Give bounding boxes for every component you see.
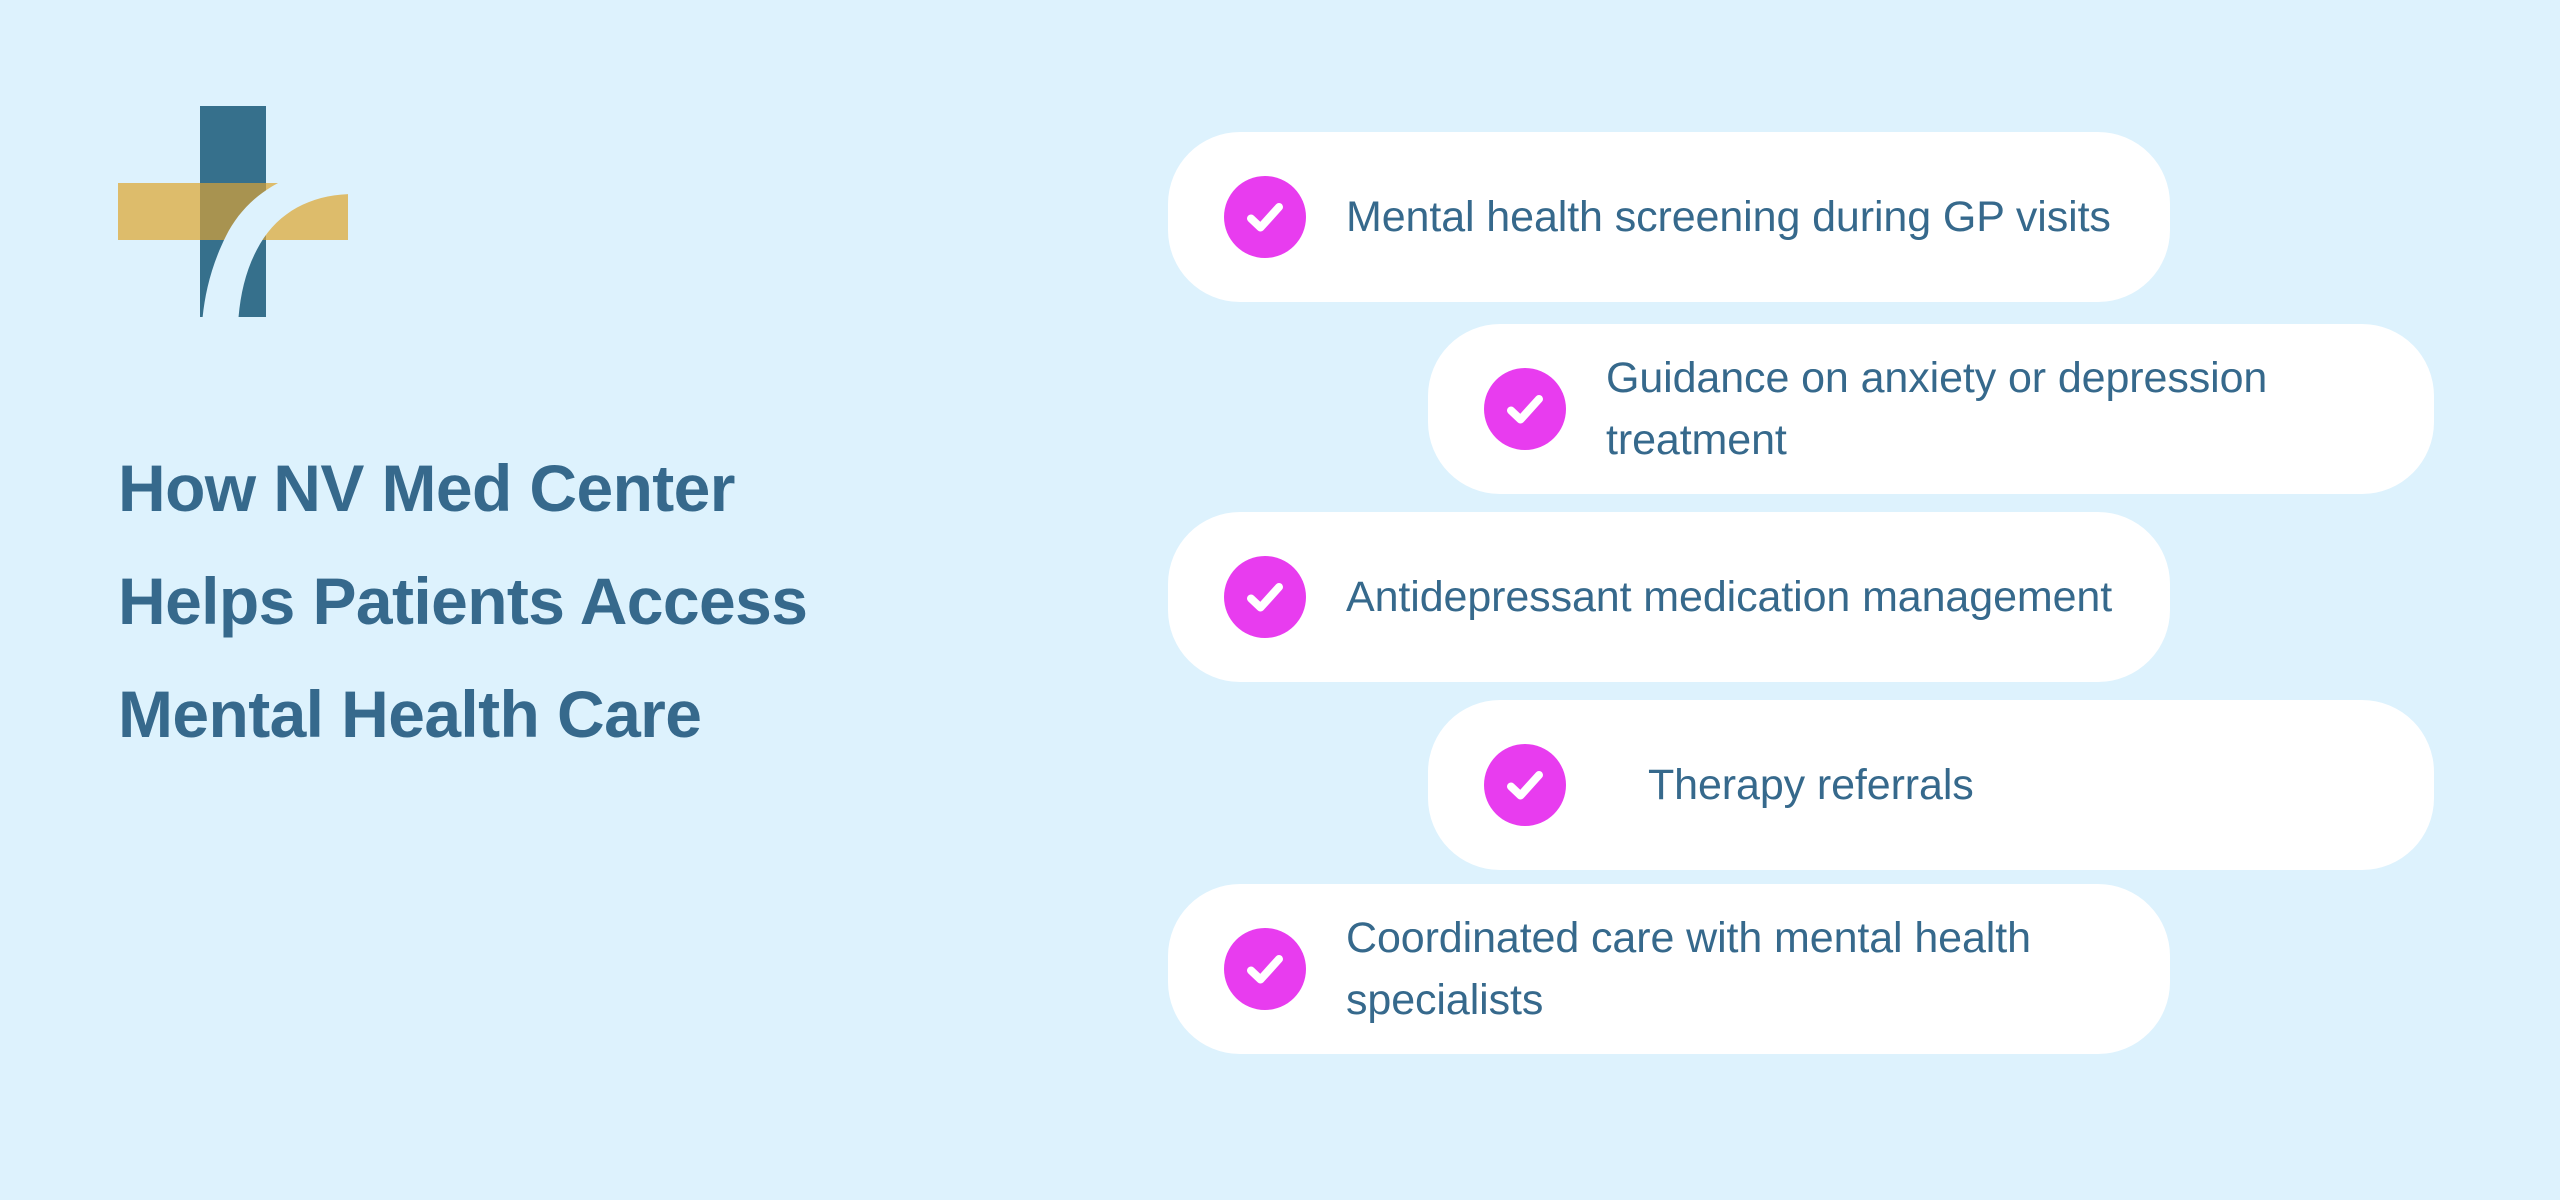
check-circle-icon (1224, 176, 1306, 258)
checklist-item[interactable]: Antidepressant medication management (1168, 512, 2170, 682)
checklist-item[interactable]: Therapy referrals (1428, 700, 2434, 870)
checklist-item-label: Coordinated care with mental health spec… (1346, 907, 2124, 1031)
checklist-item[interactable]: Mental health screening during GP visits (1168, 132, 2170, 302)
checklist-item-label: Therapy referrals (1648, 754, 1974, 816)
checklist-item[interactable]: Coordinated care with mental health spec… (1168, 884, 2170, 1054)
checklist-item-label: Antidepressant medication management (1346, 566, 2112, 628)
check-circle-icon (1484, 744, 1566, 826)
checklist-item-label: Mental health screening during GP visits (1346, 186, 2111, 248)
check-circle-icon (1224, 928, 1306, 1010)
check-circle-icon (1484, 368, 1566, 450)
checklist: Mental health screening during GP visits… (0, 0, 2560, 1200)
checklist-item-label: Guidance on anxiety or depression treatm… (1606, 347, 2388, 471)
check-circle-icon (1224, 556, 1306, 638)
checklist-item[interactable]: Guidance on anxiety or depression treatm… (1428, 324, 2434, 494)
infographic-slide: How NV Med Center Helps Patients Access … (0, 0, 2560, 1200)
